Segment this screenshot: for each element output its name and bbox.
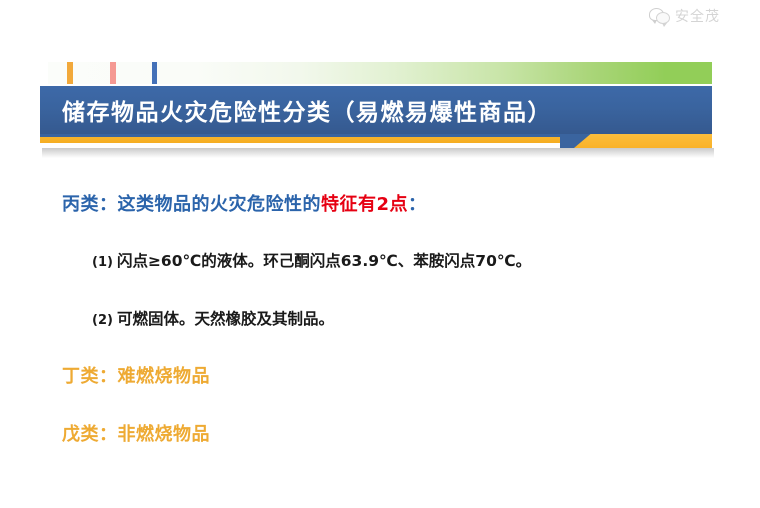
page-title: 储存物品火灾危险性分类（易燃易爆性商品） (62, 93, 552, 127)
slide-canvas: 安全茂 储存物品火灾危险性分类（易燃易爆性商品） 丙类：这类物品的火灾危险性的特… (0, 0, 760, 508)
under-band-right (574, 134, 712, 148)
category-line-wu: 戊类：非燃烧物品 (62, 420, 760, 450)
list-item-text: 闪点≥60℃的液体。环己酮闪点63.9℃、苯胺闪点70℃。 (117, 252, 531, 270)
lead-highlight: 特征有2点 (321, 194, 408, 215)
lead-suffix: ： (408, 194, 427, 215)
list-item-number: (1) (92, 255, 113, 270)
header-accent-strip (48, 62, 712, 84)
wechat-bubbles-icon (649, 6, 669, 26)
watermark-label: 安全茂 (675, 6, 720, 26)
accent-tick-orange (67, 62, 73, 84)
title-under-band (40, 134, 712, 148)
accent-tick-pink (110, 62, 116, 84)
list-item: (1)闪点≥60℃的液体。环己酮闪点63.9℃、苯胺闪点70℃。 (92, 248, 760, 276)
lead-prefix: 丙类：这类物品的火灾危险性的 (62, 194, 321, 215)
slide-title-bar: 储存物品火灾危险性分类（易燃易爆性商品） (40, 86, 712, 134)
accent-tick-blue (152, 62, 157, 84)
list-item-text: 可燃固体。天然橡胶及其制品。 (117, 310, 334, 328)
under-band-left-blue-edge (40, 134, 574, 137)
category-line-ding: 丁类：难燃烧物品 (62, 362, 760, 392)
slide-content: 丙类：这类物品的火灾危险性的特征有2点： (1)闪点≥60℃的液体。环己酮闪点6… (0, 190, 760, 450)
list-item-number: (2) (92, 313, 113, 328)
watermark: 安全茂 (649, 6, 720, 26)
list-item: (2)可燃固体。天然橡胶及其制品。 (92, 306, 760, 334)
title-band-shadow (42, 148, 714, 158)
lead-statement: 丙类：这类物品的火灾危险性的特征有2点： (62, 190, 760, 220)
